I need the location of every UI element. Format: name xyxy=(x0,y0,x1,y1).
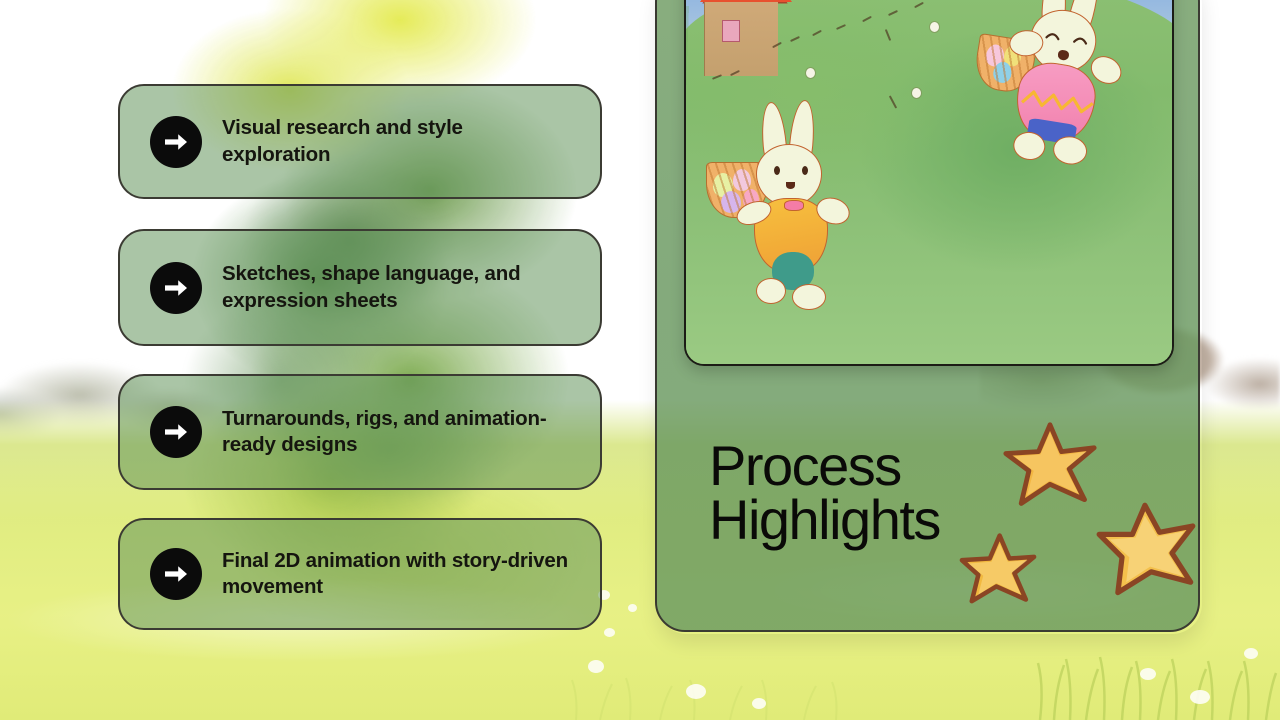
bunny-mouth xyxy=(786,182,795,189)
grass-tuft-center-decoration xyxy=(560,650,860,720)
illustration-canvas xyxy=(686,0,1172,364)
meadow-flower-decoration xyxy=(588,660,604,673)
bunny-orange-shirt xyxy=(706,102,916,322)
illustration-flower-decoration xyxy=(806,68,815,78)
step-label: Visual research and style exploration xyxy=(222,115,572,167)
bunny-pink-sweater xyxy=(953,0,1174,201)
process-highlights-panel: Process Highlights xyxy=(655,0,1200,632)
process-steps-list: Visual research and style exploration Sk… xyxy=(118,84,602,630)
arrow-right-icon xyxy=(150,406,202,458)
meadow-flower-decoration xyxy=(628,604,637,612)
illustration-flower-decoration xyxy=(912,88,921,98)
bunny-eye xyxy=(774,166,780,175)
step-label: Sketches, shape language, and expression… xyxy=(222,261,572,313)
step-card-2[interactable]: Sketches, shape language, and expression… xyxy=(118,229,602,346)
meadow-flower-decoration xyxy=(1140,668,1156,680)
meadow-flower-decoration xyxy=(604,628,615,637)
slide-canvas: Visual research and style exploration Sk… xyxy=(0,0,1280,720)
house-window-decoration xyxy=(722,20,740,42)
arrow-right-icon xyxy=(150,262,202,314)
star-bottom-left-decoration xyxy=(957,529,1039,611)
page-title-line-2: Highlights xyxy=(709,493,940,547)
step-label: Final 2D animation with story-driven mov… xyxy=(222,548,572,600)
step-card-1[interactable]: Visual research and style exploration xyxy=(118,84,602,199)
bunny-foot xyxy=(792,284,826,310)
meadow-flower-decoration xyxy=(1244,648,1258,659)
meadow-flower-decoration xyxy=(1190,690,1210,704)
illustration-flower-decoration xyxy=(930,22,939,32)
easter-bunnies-meadow-illustration xyxy=(684,0,1174,366)
meadow-flower-decoration xyxy=(752,698,766,709)
step-card-4[interactable]: Final 2D animation with story-driven mov… xyxy=(118,518,602,630)
bunny-eye xyxy=(802,166,808,175)
bunny-bowtie xyxy=(784,200,804,211)
step-card-3[interactable]: Turnarounds, rigs, and animation-ready d… xyxy=(118,374,602,490)
meadow-flower-decoration xyxy=(686,684,706,699)
star-top-decoration xyxy=(1002,419,1098,515)
arrow-right-icon xyxy=(150,548,202,600)
arrow-right-icon xyxy=(150,116,202,168)
house-body-decoration xyxy=(704,2,778,76)
step-label: Turnarounds, rigs, and animation-ready d… xyxy=(222,406,572,458)
star-bottom-right-decoration xyxy=(1095,499,1199,603)
bunny-foot xyxy=(756,278,786,304)
bunny-head xyxy=(756,144,822,206)
page-title: Process Highlights xyxy=(709,439,940,547)
